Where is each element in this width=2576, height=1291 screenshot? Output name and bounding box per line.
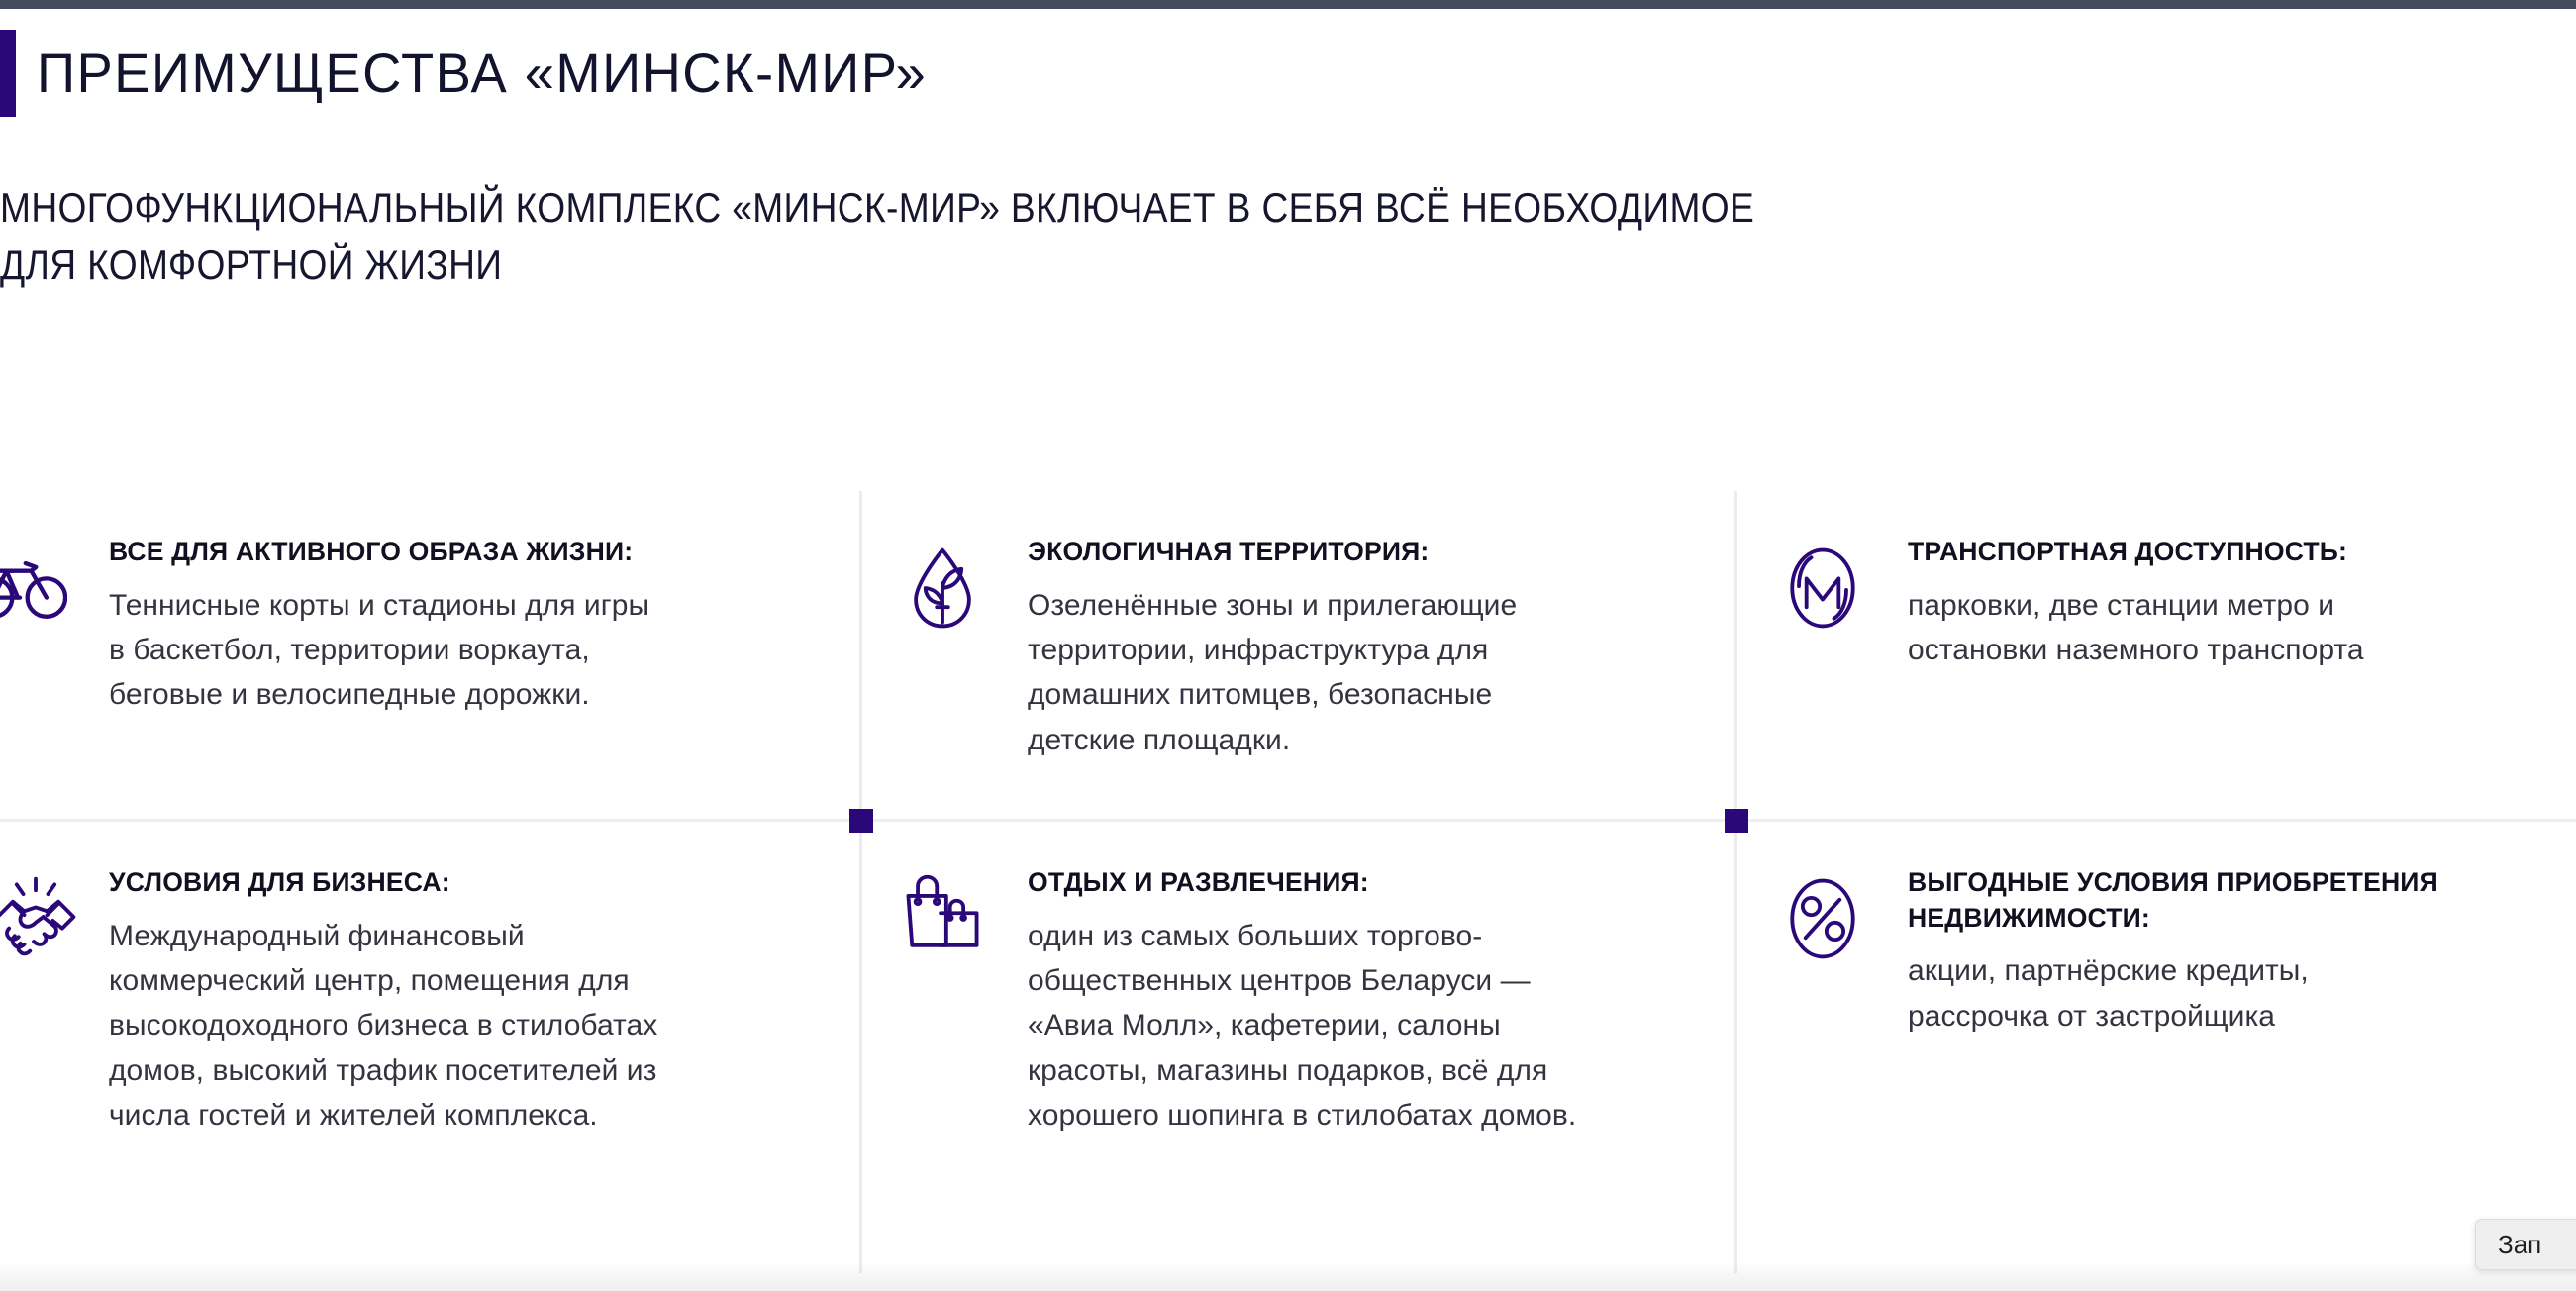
advantage-card-title: ТРАНСПОРТНАЯ ДОСТУПНОСТЬ:: [1908, 535, 2562, 570]
advantage-card-text: Озеленённые зоны и прилегающие территори…: [1028, 583, 1707, 762]
advantage-card-text-line: Озеленённые зоны и прилегающие: [1028, 583, 1707, 628]
advantage-card-text-line: один из самых больших торгово-: [1028, 914, 1707, 958]
advantage-card: ОТДЫХ И РАЗВЛЕЧЕНИЯ: один из самых больш…: [875, 865, 1707, 1138]
advantage-card-text-line: высокодоходного бизнеса в стилобатах: [109, 1003, 832, 1047]
title-accent-bar: [0, 30, 16, 117]
floating-action-button-label: Зап: [2498, 1230, 2541, 1260]
advantage-card-title: ОТДЫХ И РАЗВЛЕЧЕНИЯ:: [1028, 865, 1697, 901]
bicycle-icon: [0, 541, 67, 636]
advantages-grid: ВСЕ ДЛЯ АКТИВНОГО ОБРАЗА ЖИЗНИ: Теннисны…: [0, 491, 2576, 1273]
advantage-card-body: ВСЕ ДЛЯ АКТИВНОГО ОБРАЗА ЖИЗНИ: Теннисны…: [109, 535, 832, 718]
advantage-card-body: ОТДЫХ И РАЗВЛЕЧЕНИЯ: один из самых больш…: [1028, 865, 1707, 1138]
advantage-card-text-line: хорошего шопинга в стилобатах домов.: [1028, 1093, 1707, 1138]
advantage-card-text: акции, партнёрские кредиты, рассрочка от…: [1908, 948, 2572, 1039]
grid-vertical-divider-2: [1734, 491, 1737, 1273]
page-subtitle-line-1: МНОГОФУНКЦИОНАЛЬНЫЙ КОМПЛЕКС «МИНСК-МИР»…: [0, 179, 2567, 237]
page-title: ПРЕИМУЩЕСТВА «МИНСК-МИР»: [37, 46, 927, 101]
percent-icon: [1775, 871, 1870, 966]
advantage-card: ВСЕ ДЛЯ АКТИВНОГО ОБРАЗА ЖИЗНИ: Теннисны…: [0, 535, 832, 718]
advantage-card-text-line: «Авиа Молл», кафетерии, салоны: [1028, 1003, 1707, 1047]
advantage-card-body: ЭКОЛОГИЧНАЯ ТЕРРИТОРИЯ: Озеленённые зоны…: [1028, 535, 1707, 762]
page-title-row: ПРЕИМУЩЕСТВА «МИНСК-МИР»: [0, 30, 954, 117]
page-subtitle-line-2: ДЛЯ КОМФОРТНОЙ ЖИЗНИ: [0, 237, 2567, 294]
advantage-card-title: ВЫГОДНЫЕ УСЛОВИЯ ПРИОБРЕТЕНИЯ НЕДВИЖИМОС…: [1908, 865, 2562, 936]
advantage-card-title: УСЛОВИЯ ДЛЯ БИЗНЕСА:: [109, 865, 821, 901]
floating-action-button[interactable]: Зап: [2475, 1219, 2576, 1270]
grid-node-marker-1: [849, 809, 873, 833]
advantage-card-text-line: домашних питомцев, безопасные: [1028, 672, 1707, 717]
advantage-card-text-line: рассрочка от застройщика: [1908, 994, 2572, 1039]
advantage-card-text: Международный финансовый коммерческий це…: [109, 914, 832, 1138]
advantage-card-title: ЭКОЛОГИЧНАЯ ТЕРРИТОРИЯ:: [1028, 535, 1697, 570]
advantage-card-body: ТРАНСПОРТНАЯ ДОСТУПНОСТЬ: парковки, две …: [1908, 535, 2572, 672]
advantage-card-body: УСЛОВИЯ ДЛЯ БИЗНЕСА: Международный финан…: [109, 865, 832, 1138]
grid-node-marker-2: [1725, 809, 1748, 833]
advantage-card-text-line: территории, инфраструктура для: [1028, 628, 1707, 672]
advantage-card-text: Теннисные корты и стадионы для игры в ба…: [109, 583, 832, 718]
advantage-card-text: один из самых больших торгово- обществен…: [1028, 914, 1707, 1138]
advantage-card-text-line: парковки, две станции метро и: [1908, 583, 2572, 628]
grid-horizontal-divider: [0, 819, 2576, 822]
metro-icon: [1775, 541, 1870, 636]
advantage-card-text-line: остановки наземного транспорта: [1908, 628, 2572, 672]
advantage-card-text-line: Теннисные корты и стадионы для игры: [109, 583, 832, 628]
page-canvas: ПРЕИМУЩЕСТВА «МИНСК-МИР» МНОГОФУНКЦИОНАЛ…: [0, 9, 2576, 1291]
advantage-card-body: ВЫГОДНЫЕ УСЛОВИЯ ПРИОБРЕТЕНИЯ НЕДВИЖИМОС…: [1908, 865, 2572, 1039]
advantage-card: ВЫГОДНЫЕ УСЛОВИЯ ПРИОБРЕТЕНИЯ НЕДВИЖИМОС…: [1750, 865, 2572, 1039]
advantage-card: ЭКОЛОГИЧНАЯ ТЕРРИТОРИЯ: Озеленённые зоны…: [875, 535, 1707, 762]
browser-chrome-bar: [0, 0, 2576, 9]
advantage-card-text-line: в баскетбол, территории воркаута,: [109, 628, 832, 672]
advantage-card: ТРАНСПОРТНАЯ ДОСТУПНОСТЬ: парковки, две …: [1750, 535, 2572, 672]
shopping-bag-icon: [895, 871, 990, 966]
grid-vertical-divider-1: [859, 491, 862, 1273]
page-subtitle: МНОГОФУНКЦИОНАЛЬНЫЙ КОМПЛЕКС «МИНСК-МИР»…: [0, 179, 2567, 293]
advantage-card: УСЛОВИЯ ДЛЯ БИЗНЕСА: Международный финан…: [0, 865, 832, 1138]
advantage-card-text: парковки, две станции метро и остановки …: [1908, 583, 2572, 673]
advantage-card-text-line: общественных центров Беларуси —: [1028, 958, 1707, 1003]
handshake-icon: [0, 871, 83, 966]
advantage-card-text-line: числа гостей и жителей комплекса.: [109, 1093, 832, 1138]
advantage-card-title: ВСЕ ДЛЯ АКТИВНОГО ОБРАЗА ЖИЗНИ:: [109, 535, 821, 570]
advantage-card-text-line: беговые и велосипедные дорожки.: [109, 672, 832, 717]
advantage-card-text-line: акции, партнёрские кредиты,: [1908, 948, 2572, 993]
advantage-card-text-line: Международный финансовый: [109, 914, 832, 958]
eco-leaf-drop-icon: [895, 541, 990, 636]
advantage-card-text-line: коммерческий центр, помещения для: [109, 958, 832, 1003]
advantage-card-text-line: красоты, магазины подарков, всё для: [1028, 1048, 1707, 1093]
advantage-card-text-line: детские площадки.: [1028, 718, 1707, 762]
advantage-card-text-line: домов, высокий трафик посетителей из: [109, 1048, 832, 1093]
